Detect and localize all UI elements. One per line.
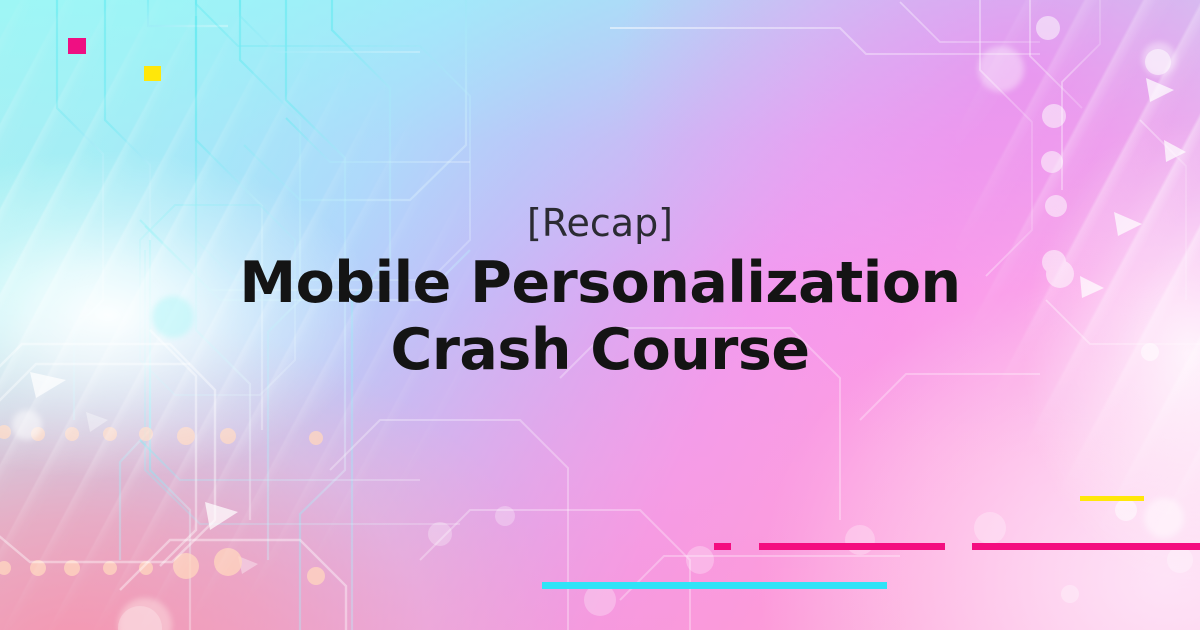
headline-line-1: Mobile Personalization <box>0 250 1200 317</box>
pink-bar-short-accent <box>714 543 731 550</box>
circuit-traces-top-center <box>140 0 470 630</box>
circuit-glint-triangles <box>30 78 1186 574</box>
circuit-halo-dots <box>118 506 1193 630</box>
light-rays-left <box>0 0 1200 630</box>
bokeh-dot <box>978 46 1024 92</box>
page-title: Mobile Personalization Crash Course <box>0 250 1200 384</box>
cyan-bar-accent <box>542 582 887 589</box>
circuit-node-dots-right <box>1036 16 1171 603</box>
circuit-traces-center <box>140 0 470 480</box>
circuit-traces-upper-right <box>900 0 1200 344</box>
yellow-bar-accent <box>1080 496 1144 501</box>
headline-line-2: Crash Course <box>0 317 1200 384</box>
circuit-traces-right <box>560 28 1200 596</box>
yellow-square-accent <box>144 66 161 81</box>
background-pale-glow <box>0 0 1200 630</box>
background-magenta-glow <box>0 0 1200 630</box>
background-vertical-tint <box>0 0 1200 630</box>
bokeh-dot <box>1142 42 1176 76</box>
light-burst-right <box>0 0 1200 630</box>
pink-bar-medium-accent <box>759 543 945 550</box>
background-base-gradient <box>0 0 1200 630</box>
title-card-canvas: [Recap] Mobile Personalization Crash Cou… <box>0 0 1200 630</box>
bokeh-dot <box>12 410 42 440</box>
light-burst-left <box>0 0 1200 630</box>
bokeh-dot <box>152 296 194 338</box>
circuit-octagon-bottom-left <box>0 330 346 630</box>
circuit-traces-bottom-center <box>140 205 460 524</box>
circuit-pin-dots <box>0 425 325 585</box>
circuit-traces-top-left <box>57 0 390 630</box>
eyebrow-label: [Recap] <box>0 198 1200 248</box>
title-block: [Recap] Mobile Personalization Crash Cou… <box>0 198 1200 384</box>
light-rays-right <box>0 0 1200 630</box>
pink-square-accent <box>68 38 86 54</box>
circuit-board-pattern <box>0 0 1200 630</box>
background-salmon-glow <box>0 0 1200 630</box>
pink-bar-long-accent <box>972 543 1200 550</box>
bokeh-dot <box>1144 498 1184 538</box>
circuit-pin-rows <box>4 432 318 576</box>
bokeh-dot <box>118 598 172 630</box>
